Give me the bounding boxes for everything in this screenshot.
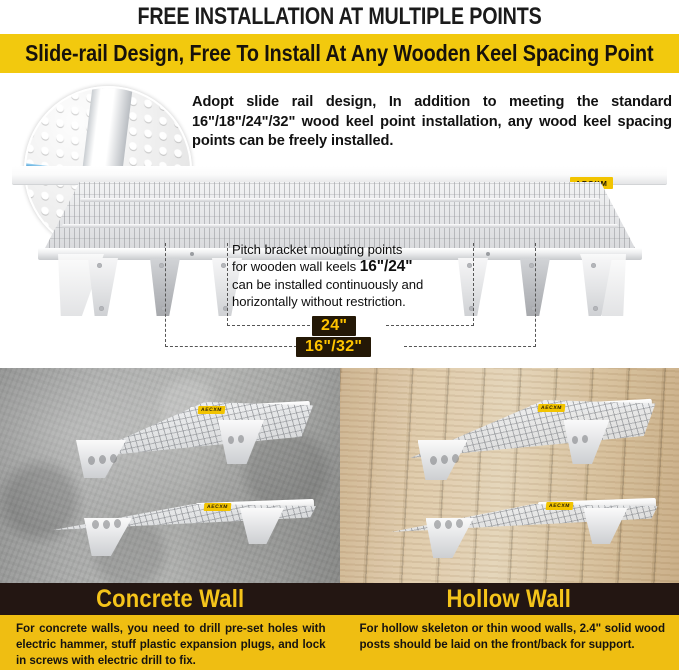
caption-bar-concrete: Concrete Wall xyxy=(0,583,340,615)
pitch-line-2-prefix: for wooden wall keels xyxy=(232,259,360,274)
caption-body-hollow: For hollow skeleton or thin wood walls, … xyxy=(340,615,679,670)
shelf-brand-badge: AECXM xyxy=(198,406,226,414)
photo-concrete-wall: AECXM AECXM xyxy=(0,368,340,583)
pitch-line-4: horizontally without restriction. xyxy=(232,294,406,309)
subtitle-banner: Slide-rail Design, Free To Install At An… xyxy=(0,34,679,73)
dimension-span-24 xyxy=(386,325,474,326)
dimension-span-24 xyxy=(227,325,315,326)
caption-body-concrete: For concrete walls, you need to drill pr… xyxy=(0,615,340,670)
pitch-keel-size: 16"/24" xyxy=(360,258,413,275)
caption-bar-hollow: Hollow Wall xyxy=(340,583,679,615)
wall-type-panels: AECXM AECXM Concrete Wall For concrete w… xyxy=(0,368,679,670)
photo-hollow-wall: AECXM AECXM xyxy=(340,368,679,583)
shelf-brand-badge: AECXM xyxy=(545,502,573,510)
dimension-leader-line xyxy=(165,243,166,347)
front-rail-hole xyxy=(190,252,194,256)
panel-hollow-wall: AECXM AECXM Hollow Wall For hollow skele… xyxy=(340,368,679,670)
deck-rib xyxy=(80,198,601,202)
shelf-brand-badge: AECXM xyxy=(204,503,232,511)
page-title: FREE INSTALLATION AT MULTIPLE POINTS xyxy=(61,0,618,33)
dimension-leader-line xyxy=(535,243,536,347)
dimension-leader-line xyxy=(473,243,474,326)
panel-title-concrete: Concrete Wall xyxy=(96,585,244,614)
dimension-span-16-32 xyxy=(404,346,536,347)
shelf-mesh-deck xyxy=(44,182,636,250)
product-diagram: Adopt slide rail design, In addition to … xyxy=(0,73,679,368)
dimension-badge-24: 24" xyxy=(312,316,356,336)
deck-rib xyxy=(62,224,618,228)
panel-concrete-wall: AECXM AECXM Concrete Wall For concrete w… xyxy=(0,368,340,670)
subtitle-text: Slide-rail Design, Free To Install At An… xyxy=(25,40,653,67)
panel-body-hollow: For hollow skeleton or thin wood walls, … xyxy=(360,621,666,653)
dimension-leader-line xyxy=(227,243,228,326)
lead-paragraph: Adopt slide rail design, In addition to … xyxy=(192,93,672,152)
concrete-wall-background xyxy=(0,368,340,583)
mounting-bracket xyxy=(88,258,118,316)
pitch-callout: Pitch bracket mounting points for wooden… xyxy=(232,241,480,311)
dimension-badge-16-32: 16"/32" xyxy=(296,337,371,357)
pitch-line-1: Pitch bracket mounting points xyxy=(232,242,402,257)
panel-body-concrete: For concrete walls, you need to drill pr… xyxy=(16,621,326,668)
dimension-span-16-32 xyxy=(165,346,297,347)
shelf-brand-badge: AECXM xyxy=(537,404,565,412)
pitch-line-3: can be installed continuously and xyxy=(232,277,423,292)
mesh-pattern xyxy=(44,182,636,250)
panel-title-hollow: Hollow Wall xyxy=(447,585,572,614)
front-rail-hole xyxy=(486,252,490,256)
